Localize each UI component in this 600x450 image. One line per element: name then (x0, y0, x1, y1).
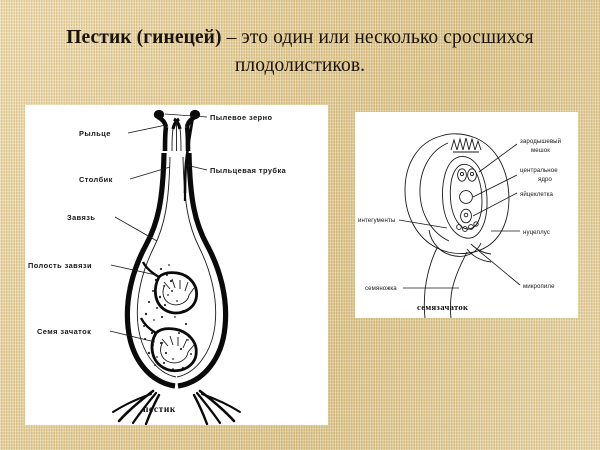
label-central-nucleus-line1: центральное (520, 167, 558, 174)
label-pollen-grain: Пылевое зерно (210, 113, 273, 122)
receptacle-brush-strokes (113, 391, 240, 424)
label-integuments: интегументы (358, 217, 395, 224)
style-left-wall (165, 127, 166, 151)
central-nucleus (460, 191, 473, 204)
label-egg-cell: яйцеклетка (520, 191, 553, 198)
ovary-stipple-texture (143, 264, 194, 370)
pistil-diagram-panel: Рыльце Столбик Завязь Полость завязи Сем… (25, 105, 328, 425)
pistil-caption: пестик (143, 405, 176, 415)
pollen-grain-right (190, 110, 200, 119)
ovule-lower (141, 318, 196, 371)
page-title: Пестик (гинецей) – это один или нескольк… (0, 24, 600, 79)
leader-integuments (399, 220, 447, 228)
ovary-cavity-outline-left (137, 157, 176, 377)
egg-cell-apparatus (457, 209, 479, 231)
slide-canvas: Пестик (гинецей) – это один или нескольк… (0, 0, 600, 450)
label-nucellus: нуцеллус (523, 229, 550, 236)
ovule-upper (143, 262, 197, 313)
label-micropyle: микропиле (523, 283, 555, 290)
label-central-nucleus-line2: ядро (538, 176, 553, 183)
leader-central-nucleus (473, 175, 517, 197)
label-pollen-tube: Пыльцевая трубка (210, 166, 287, 175)
title-bold-term: Пестик (гинецей) (66, 27, 221, 48)
ovule-diagram-panel: интегументы семяножка зародышевый мешок … (355, 112, 578, 318)
title-line-1-rest: – это один или несколько сросшихся (222, 27, 534, 48)
label-ovary-cavity: Полость завязи (28, 261, 92, 270)
leader-embryo-sac (479, 144, 517, 172)
ovule-left-labels: интегументы семяножка (358, 217, 459, 292)
label-ovule: Семя зачаток (37, 327, 91, 336)
label-funiculus: семяножка (365, 285, 397, 292)
label-stigma: Рыльце (79, 129, 111, 138)
leader-micropyle (479, 251, 520, 285)
pistil-drawing (113, 110, 240, 424)
chalaza-fold (429, 230, 481, 256)
nucellus (443, 157, 488, 239)
label-embryo-sac-line2: мешок (531, 147, 550, 154)
label-embryo-sac-line1: зародышевый (520, 138, 561, 145)
leader-egg-cell (473, 193, 517, 216)
ovule-caption: семязачаток (417, 302, 468, 312)
leader-pollen-grain (165, 114, 207, 117)
synergid-cells (458, 169, 477, 181)
ovary-cavity-outline-right (177, 157, 216, 377)
pistil-diagram-svg: Рыльце Столбик Завязь Полость завязи Сем… (25, 105, 328, 425)
leader-stigma (128, 125, 166, 133)
style-left-inner (172, 129, 173, 151)
title-line-1: Пестик (гинецей) – это один или нескольк… (0, 24, 600, 52)
label-ovary: Завязь (67, 213, 95, 222)
ovule-diagram-svg: интегументы семяножка зародышевый мешок … (355, 112, 578, 318)
label-style: Столбик (79, 175, 113, 184)
title-line-2: плодолистиков. (0, 52, 600, 80)
style-right-inner (180, 129, 181, 151)
pollen-grain-left (154, 110, 164, 119)
antipodal-cells (451, 138, 481, 152)
